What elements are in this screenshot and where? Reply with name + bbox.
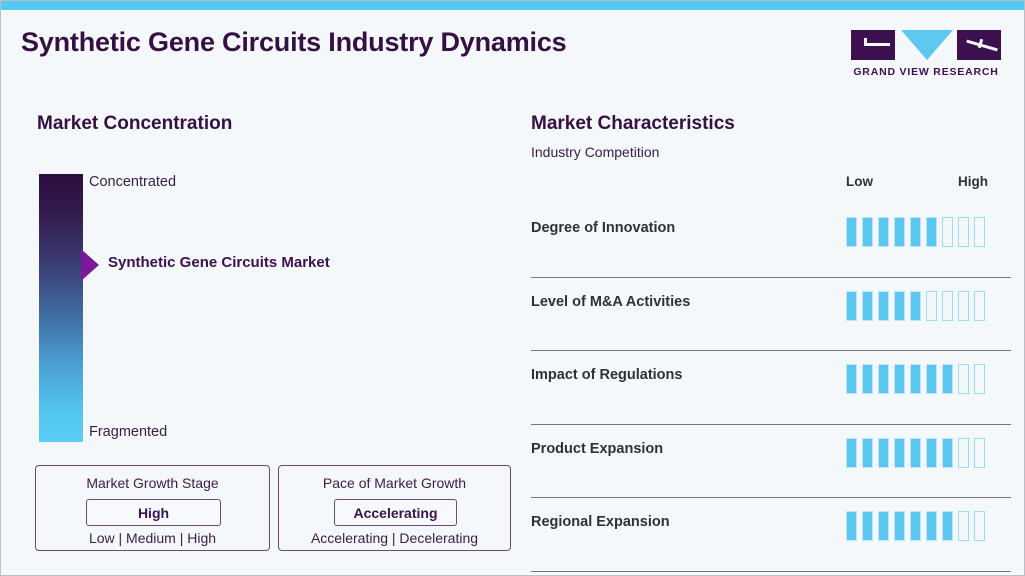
rating-segment-filled (846, 364, 857, 394)
rating-segment-filled (910, 364, 921, 394)
logo-g-stem (864, 38, 867, 44)
logo-marks (851, 30, 1001, 60)
rating-segment-empty (942, 217, 953, 247)
characteristic-label: Degree of Innovation (531, 220, 675, 236)
rating-segment-empty (958, 364, 969, 394)
pace-of-market-growth-value: Accelerating (353, 505, 437, 521)
characteristic-rating-meter (846, 438, 985, 468)
rating-segment-empty (974, 511, 985, 541)
characteristic-rating-meter (846, 511, 985, 541)
header: Synthetic Gene Circuits Industry Dynamic… (1, 10, 1025, 86)
rating-segment-filled (878, 291, 889, 321)
scale-high-label: High (958, 174, 988, 189)
rating-segment-filled (846, 217, 857, 247)
concentration-gradient-scale (39, 174, 83, 442)
grand-view-research-logo: GRAND VIEW RESEARCH (851, 30, 1001, 82)
rating-segment-filled (878, 511, 889, 541)
rating-segment-filled (862, 511, 873, 541)
market-growth-stage-card: Market Growth Stage High Low | Medium | … (35, 465, 270, 551)
rating-segment-empty (974, 438, 985, 468)
pace-of-market-growth-value-box: Accelerating (334, 499, 457, 526)
rating-segment-filled (910, 438, 921, 468)
rating-segment-filled (942, 364, 953, 394)
rating-segment-filled (926, 364, 937, 394)
market-growth-stage-options: Low | Medium | High (36, 530, 269, 546)
characteristic-row: Degree of Innovation (531, 204, 1011, 278)
infographic-page: Synthetic Gene Circuits Industry Dynamic… (0, 0, 1025, 576)
page-title: Synthetic Gene Circuits Industry Dynamic… (21, 27, 566, 58)
rating-segment-filled (910, 291, 921, 321)
market-characteristics-panel: Market Characteristics Industry Competit… (516, 86, 1025, 576)
rating-segment-filled (910, 217, 921, 247)
rating-segment-empty (926, 291, 937, 321)
market-growth-stage-value: High (138, 505, 169, 521)
rating-segment-filled (894, 511, 905, 541)
market-characteristics-subtitle: Industry Competition (531, 144, 659, 160)
rating-segment-filled (942, 511, 953, 541)
concentration-top-label: Concentrated (89, 174, 176, 190)
rating-segment-empty (942, 291, 953, 321)
characteristics-rows: Degree of InnovationLevel of M&A Activit… (516, 204, 1025, 572)
rating-segment-filled (926, 511, 937, 541)
characteristic-label: Impact of Regulations (531, 367, 682, 383)
rating-segment-filled (846, 511, 857, 541)
rating-segment-empty (958, 217, 969, 247)
rating-segment-filled (894, 291, 905, 321)
pace-of-market-growth-heading: Pace of Market Growth (279, 475, 510, 491)
market-position-label: Synthetic Gene Circuits Market (108, 254, 330, 271)
logo-letter-r-icon (957, 30, 1001, 60)
rating-segment-empty (974, 364, 985, 394)
rating-segment-filled (942, 438, 953, 468)
scale-low-label: Low (846, 174, 873, 189)
top-accent-bar (1, 1, 1025, 10)
rating-segment-filled (862, 217, 873, 247)
rating-segment-filled (846, 291, 857, 321)
rating-segment-empty (958, 291, 969, 321)
characteristic-row: Impact of Regulations (531, 351, 1011, 425)
characteristic-rating-meter (846, 291, 985, 321)
rating-segment-filled (846, 438, 857, 468)
characteristic-row: Regional Expansion (531, 498, 1011, 572)
characteristic-label: Product Expansion (531, 441, 663, 457)
logo-g-bar (864, 43, 890, 46)
rating-segment-filled (862, 364, 873, 394)
logo-letter-g-icon (851, 30, 895, 60)
rating-segment-empty (958, 511, 969, 541)
rating-segment-empty (974, 217, 985, 247)
pace-of-market-growth-options: Accelerating | Decelerating (279, 530, 510, 546)
rating-segment-empty (974, 291, 985, 321)
rating-segment-filled (926, 217, 937, 247)
rating-segment-filled (878, 217, 889, 247)
logo-wordmark: GRAND VIEW RESEARCH (851, 66, 1001, 78)
characteristic-rating-meter (846, 217, 985, 247)
market-position-pointer-icon (81, 249, 99, 281)
concentration-bottom-label: Fragmented (89, 424, 167, 440)
rating-segment-filled (878, 364, 889, 394)
rating-segment-filled (862, 438, 873, 468)
rating-segment-filled (878, 438, 889, 468)
rating-segment-empty (958, 438, 969, 468)
market-concentration-title: Market Concentration (37, 113, 232, 135)
characteristic-label: Level of M&A Activities (531, 294, 690, 310)
rating-segment-filled (894, 364, 905, 394)
characteristic-row: Level of M&A Activities (531, 278, 1011, 352)
rating-segment-filled (862, 291, 873, 321)
market-concentration-panel: Market Concentration Concentrated Fragme… (1, 86, 516, 576)
rating-segment-filled (894, 438, 905, 468)
market-growth-stage-heading: Market Growth Stage (36, 475, 269, 491)
characteristic-rating-meter (846, 364, 985, 394)
pace-of-market-growth-card: Pace of Market Growth Accelerating Accel… (278, 465, 511, 551)
characteristic-label: Regional Expansion (531, 514, 670, 530)
rating-segment-filled (926, 438, 937, 468)
rating-segment-filled (910, 511, 921, 541)
rating-segment-filled (894, 217, 905, 247)
market-characteristics-title: Market Characteristics (531, 113, 735, 135)
characteristic-row: Product Expansion (531, 425, 1011, 499)
logo-triangle-icon (901, 30, 953, 60)
market-growth-stage-value-box: High (86, 499, 221, 526)
